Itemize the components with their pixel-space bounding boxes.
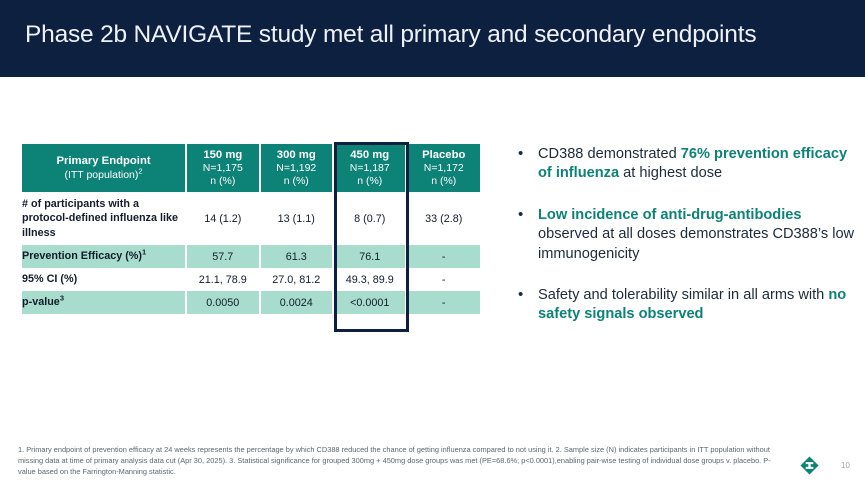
- cell-value-highlighted: 76.1: [333, 245, 406, 268]
- cell-value: -: [406, 291, 480, 314]
- cell-value: 57.7: [186, 245, 259, 268]
- slide: Phase 2b NAVIGATE study met all primary …: [0, 0, 865, 484]
- cell-value: -: [406, 268, 480, 291]
- list-item: CD388 demonstrated 76% prevention effica…: [516, 145, 856, 184]
- cell-value-highlighted: <0.0001: [333, 291, 406, 314]
- column-title: Primary Endpoint: [22, 154, 185, 168]
- row-label-text: Prevention Efficacy (%): [22, 250, 142, 262]
- row-label: Prevention Efficacy (%)1: [22, 245, 186, 268]
- bullet-text: CD388 demonstrated: [538, 146, 681, 162]
- column-unit: n (%): [261, 175, 332, 188]
- cell-value: 61.3: [260, 245, 333, 268]
- table-header-cell-placebo: Placebo N=1,172 n (%): [406, 144, 480, 192]
- bullet-text: at highest dose: [619, 165, 722, 181]
- cell-value: 33 (2.8): [406, 192, 480, 245]
- table-header-cell-endpoint: Primary Endpoint (ITT population)2: [22, 144, 186, 192]
- column-subtitle-text: (ITT population): [64, 169, 138, 181]
- cell-value-highlighted: 49.3, 89.9: [333, 268, 406, 291]
- column-unit: n (%): [407, 175, 480, 188]
- footnote-marker: 3: [60, 294, 64, 303]
- column-subtitle: (ITT population)2: [22, 169, 185, 182]
- column-n: N=1,172: [407, 162, 480, 175]
- page-title: Phase 2b NAVIGATE study met all primary …: [25, 21, 756, 49]
- column-title: 300 mg: [261, 148, 332, 162]
- column-title: Placebo: [407, 148, 480, 162]
- highlighted-phrase: Low incidence of anti-drug-antibodies: [538, 207, 802, 223]
- list-item: Low incidence of anti-drug-antibodies ob…: [516, 206, 856, 264]
- row-label-text: # of participants with a protocol-define…: [22, 198, 178, 239]
- list-item: Safety and tolerability similar in all a…: [516, 286, 856, 325]
- results-table: Primary Endpoint (ITT population)2 150 m…: [22, 144, 480, 314]
- column-title: 150 mg: [187, 148, 258, 162]
- column-unit: n (%): [334, 175, 405, 188]
- table-header-cell-300mg: 300 mg N=1,192 n (%): [260, 144, 333, 192]
- row-label-text: p-value: [22, 296, 60, 308]
- bullet-text: observed at all doses demonstrates CD388…: [538, 226, 854, 261]
- column-n: N=1,175: [187, 162, 258, 175]
- table-row: p-value3 0.0050 0.0024 <0.0001 -: [22, 291, 480, 314]
- row-label-text: 95% CI (%): [22, 273, 77, 285]
- diamond-logo: [800, 456, 819, 475]
- column-unit: n (%): [187, 175, 258, 188]
- footnote-marker: 1: [142, 248, 146, 257]
- cell-value: 0.0024: [260, 291, 333, 314]
- footnote-marker: 2: [138, 166, 142, 175]
- cell-value-highlighted: 8 (0.7): [333, 192, 406, 245]
- row-label: # of participants with a protocol-define…: [22, 192, 186, 245]
- table-header-row: Primary Endpoint (ITT population)2 150 m…: [22, 144, 480, 192]
- cell-value: 27.0, 81.2: [260, 268, 333, 291]
- column-title: 450 mg: [334, 148, 405, 162]
- table-header-cell-150mg: 150 mg N=1,175 n (%): [186, 144, 259, 192]
- table-row: Prevention Efficacy (%)1 57.7 61.3 76.1 …: [22, 245, 480, 268]
- key-findings-list: CD388 demonstrated 76% prevention effica…: [516, 145, 856, 347]
- table-row: 95% CI (%) 21.1, 78.9 27.0, 81.2 49.3, 8…: [22, 268, 480, 291]
- cell-value: 0.0050: [186, 291, 259, 314]
- page-number: 10: [841, 461, 850, 470]
- cell-value: 21.1, 78.9: [186, 268, 259, 291]
- cell-value: 13 (1.1): [260, 192, 333, 245]
- table-header-cell-450mg: 450 mg N=1,187 n (%): [333, 144, 406, 192]
- column-n: N=1,187: [334, 162, 405, 175]
- table-row: # of participants with a protocol-define…: [22, 192, 480, 245]
- cell-value: -: [406, 245, 480, 268]
- footnote-text: 1. Primary endpoint of prevention effica…: [18, 445, 788, 478]
- bullet-text: Safety and tolerability similar in all a…: [538, 287, 828, 303]
- row-label: p-value3: [22, 291, 186, 314]
- cell-value: 14 (1.2): [186, 192, 259, 245]
- column-n: N=1,192: [261, 162, 332, 175]
- row-label: 95% CI (%): [22, 268, 186, 291]
